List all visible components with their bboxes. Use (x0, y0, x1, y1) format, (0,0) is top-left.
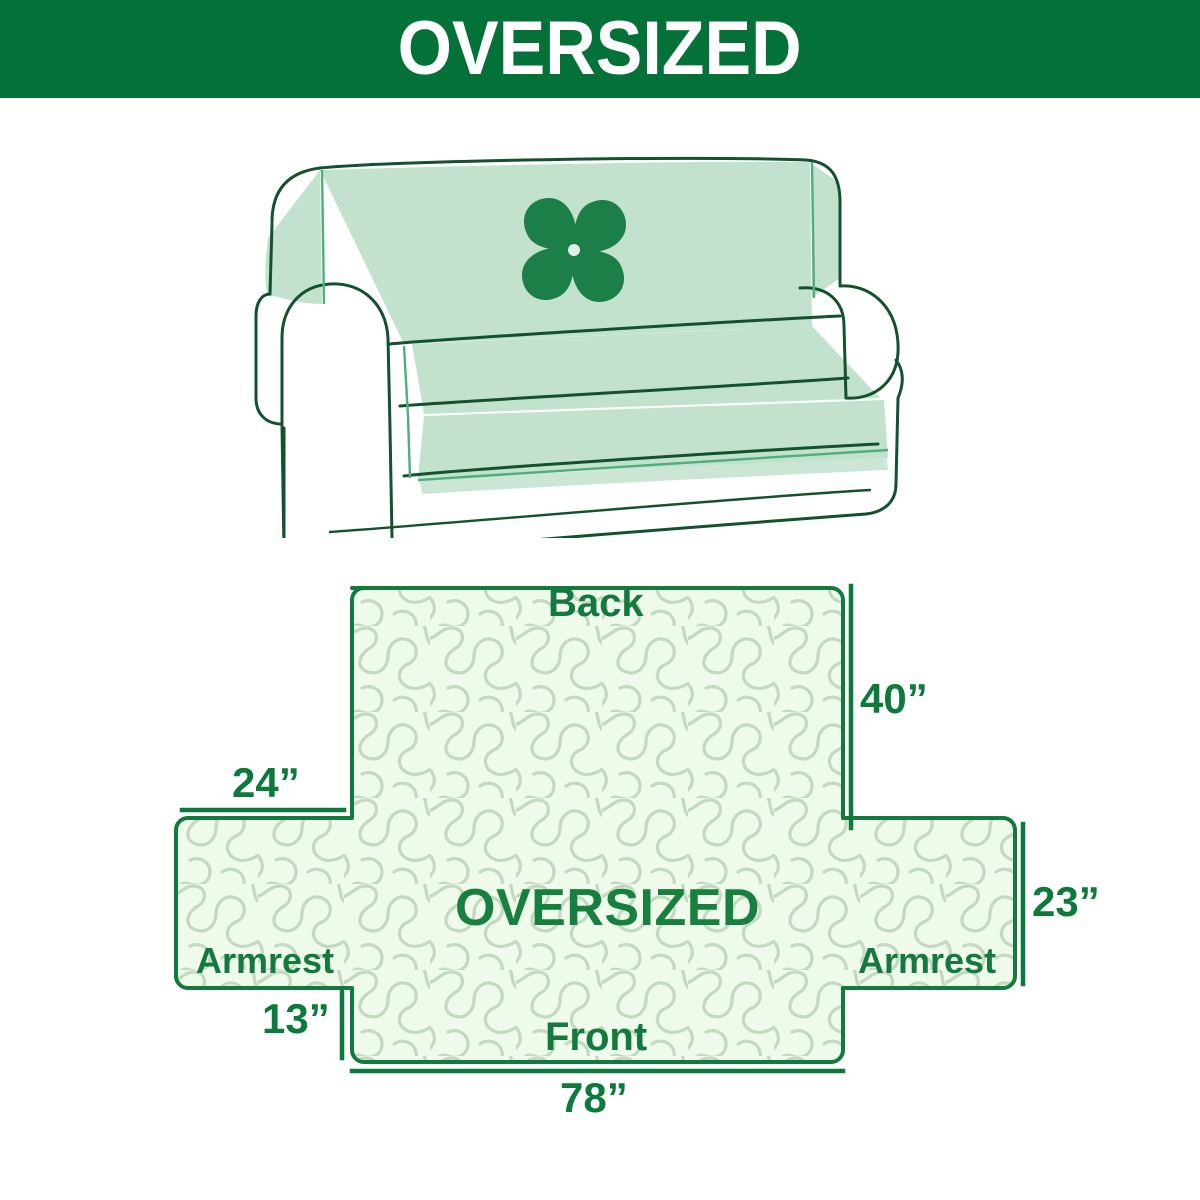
label-back: Back (548, 583, 644, 623)
slipcover-fill (265, 162, 888, 494)
dimension-label-78: 78” (560, 1077, 628, 1119)
banner-title: OVERSIZED (398, 11, 802, 87)
label-oversized-center: OVERSIZED (455, 882, 760, 934)
dimension-diagram: Back OVERSIZED Armrest Armrest Front 40”… (0, 540, 1200, 1200)
sofa-illustration (0, 98, 1200, 538)
label-front: Front (545, 1017, 647, 1057)
dimension-label-13: 13” (262, 998, 330, 1040)
dimension-label-24: 24” (232, 762, 300, 804)
size-chart-page: OVERSIZED (0, 0, 1200, 1200)
sofa-drawing-svg (0, 98, 1200, 538)
label-armrest-left: Armrest (196, 943, 334, 979)
dimension-label-40: 40” (860, 678, 928, 720)
label-armrest-right: Armrest (858, 943, 996, 979)
header-banner: OVERSIZED (0, 0, 1200, 98)
cover-shape (176, 588, 1015, 1062)
dimension-label-23: 23” (1032, 881, 1100, 923)
